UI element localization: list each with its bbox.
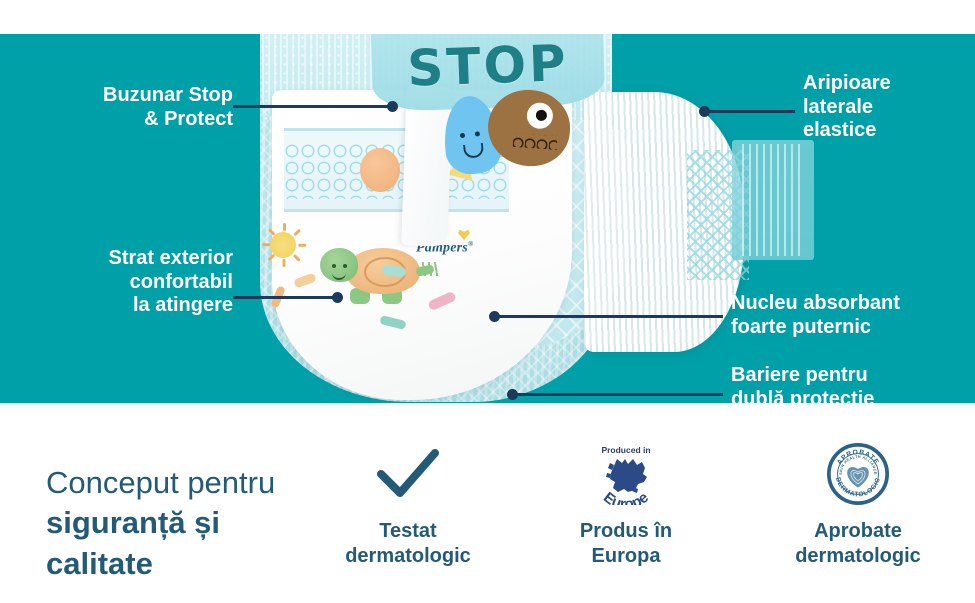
- product-illustration: Pampers® STOP: [232, 34, 752, 403]
- europe-map-shape: [606, 459, 647, 493]
- leader-line-strat: [233, 296, 338, 299]
- sun-icon: [270, 232, 296, 258]
- badge-testat-dermatologic: Testat dermatologic: [318, 443, 498, 569]
- europe-text: Europe: [600, 489, 652, 505]
- callout-aripioare-laterale: Aripioare laterale elastice: [803, 72, 963, 143]
- badge-caption-line: Aprobate: [758, 519, 958, 544]
- headline-bold-line-2: calitate: [46, 544, 336, 584]
- produced-in-text: Produced in: [601, 445, 650, 455]
- leader-dot-bariere: [507, 389, 518, 400]
- skin-health-alliance-seal-icon: APROBATE DERMATOLOGIC SKIN HEALTH ALLIAN…: [758, 443, 958, 505]
- produced-in-europe-icon: Produced in Europe: [542, 443, 710, 505]
- callout-line: Buzunar Stop: [45, 84, 233, 108]
- callout-strat-exterior: Strat exterior confortabil la atingere: [40, 247, 233, 318]
- callout-line: dublă protecție: [731, 388, 937, 403]
- badge-caption-line: dermatologic: [758, 544, 958, 569]
- callout-line: & Protect: [45, 108, 233, 132]
- grass-decor: [418, 262, 440, 276]
- checkmark-icon: [318, 443, 498, 505]
- badge-caption-line: Europa: [542, 544, 710, 569]
- headline-bold-line-1: siguranță și: [46, 503, 336, 543]
- badge-caption-line: dermatologic: [318, 544, 498, 569]
- trademark-symbol: ®: [468, 240, 473, 248]
- badge-caption-line: Produs în: [542, 519, 710, 544]
- wing-fastening-tape: [732, 140, 814, 260]
- infographic-root: Pampers® STOP Buzunar Stop & Protect Str…: [0, 0, 975, 603]
- callout-line: foarte puternic: [731, 316, 949, 340]
- leader-line-nucleu: [495, 315, 723, 318]
- callout-line: Bariere pentru: [731, 364, 937, 388]
- badge-caption-line: Testat: [318, 519, 498, 544]
- leader-line-aripioare: [705, 110, 795, 113]
- leader-dot-aripioare: [699, 106, 710, 117]
- callout-line: laterale: [803, 96, 963, 120]
- headline-regular-line: Conceput pentru: [46, 463, 336, 503]
- leader-dot-nucleu: [489, 311, 500, 322]
- callout-line: Strat exterior: [40, 247, 233, 271]
- badge-produs-in-europa: Produced in Europe Produs în Europa: [542, 443, 710, 569]
- trust-headline: Conceput pentru siguranță și calitate: [46, 463, 336, 584]
- callout-nucleu-absorbant: Nucleu absorbant foarte puternic: [731, 292, 949, 339]
- leader-dot-buzunar: [387, 101, 398, 112]
- callout-bariere-dubla-protectie: Bariere pentru dublă protecție: [731, 364, 937, 403]
- leader-line-buzunar: [233, 105, 393, 108]
- callout-line: Nucleu absorbant: [731, 292, 949, 316]
- callout-line: Aripioare: [803, 72, 963, 96]
- callout-buzunar-stop-protect: Buzunar Stop & Protect: [45, 84, 233, 131]
- orange-dot-decor: [360, 148, 400, 192]
- callout-line: elastice: [803, 119, 963, 143]
- badge-aprobate-dermatologic: APROBATE DERMATOLOGIC SKIN HEALTH ALLIAN…: [758, 443, 958, 569]
- callout-line: confortabil: [40, 271, 233, 295]
- leader-line-bariere: [513, 393, 723, 396]
- stop-band: STOP: [371, 34, 606, 112]
- callout-line: la atingere: [40, 294, 233, 318]
- leader-dot-strat: [332, 292, 343, 303]
- feature-panel: Pampers® STOP Buzunar Stop & Protect Str…: [0, 34, 975, 403]
- stop-band-text: STOP: [407, 38, 570, 94]
- trust-band: Conceput pentru siguranță și calitate Te…: [0, 403, 975, 603]
